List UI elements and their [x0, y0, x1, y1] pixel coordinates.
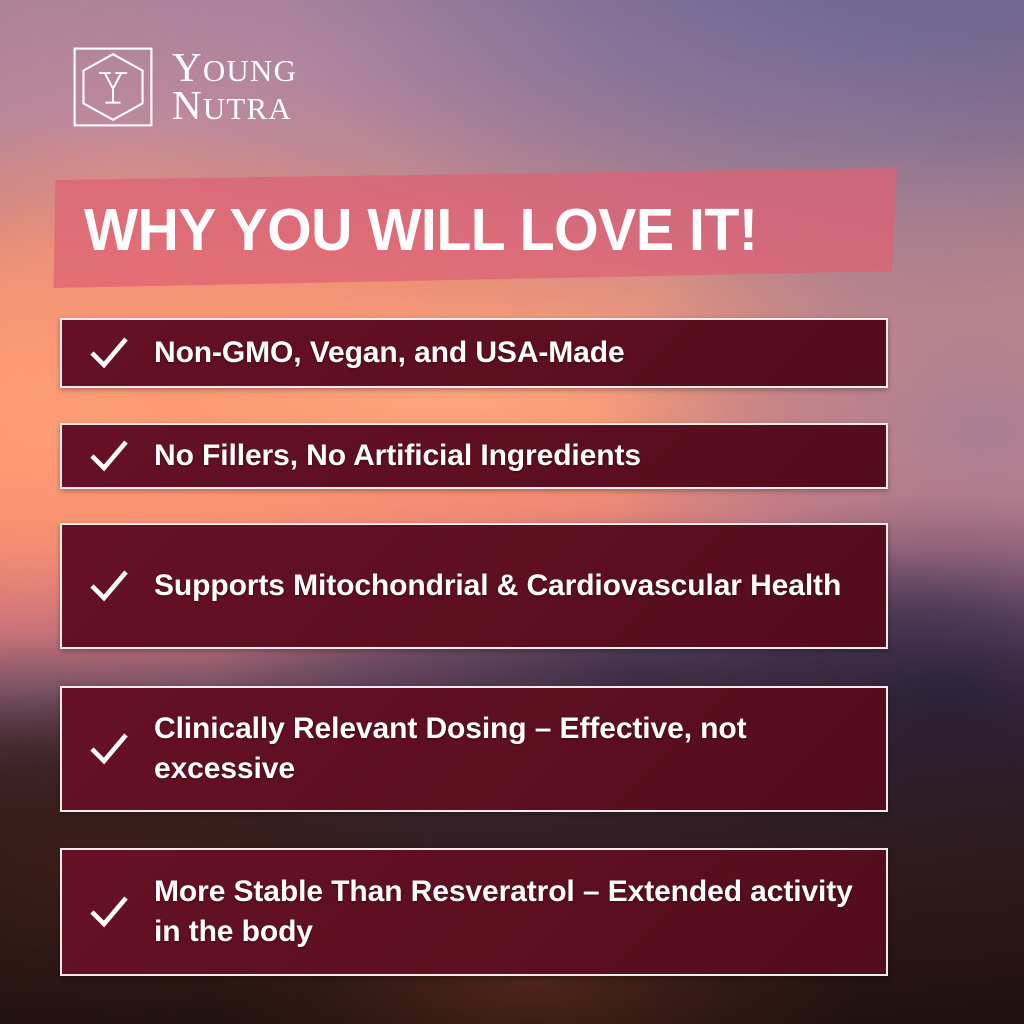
benefit-item-label: More Stable Than Resveratrol – Extended …: [154, 872, 854, 952]
benefit-item: Non-GMO, Vegan, and USA-Made: [60, 318, 888, 388]
benefit-item: More Stable Than Resveratrol – Extended …: [60, 848, 888, 976]
check-mark-icon: [86, 566, 132, 606]
benefit-item-label: Non-GMO, Vegan, and USA-Made: [154, 333, 834, 373]
page-title: WHY YOU WILL LOVE IT!: [84, 196, 889, 264]
check-mark-icon: [86, 333, 132, 373]
benefit-item: No Fillers, No Artificial Ingredients: [60, 423, 888, 489]
benefit-item: Supports Mitochondrial & Cardiovascular …: [60, 523, 888, 649]
brand-logo: YOUNG NUTRA: [72, 46, 297, 128]
brand-name-line-2: NUTRA: [172, 87, 297, 125]
check-mark-icon: [86, 892, 132, 932]
check-mark-icon: [86, 729, 132, 769]
young-nutra-hexagon-y-logo-icon: [72, 46, 154, 128]
benefit-item-label: Supports Mitochondrial & Cardiovascular …: [154, 566, 854, 606]
benefit-item-label: No Fillers, No Artificial Ingredients: [154, 436, 834, 476]
check-mark-icon: [86, 436, 132, 476]
benefit-item-label: Clinically Relevant Dosing – Effective, …: [154, 709, 854, 789]
promotional-graphic: YOUNG NUTRA WHY YOU WILL LOVE IT! Non-GM…: [0, 0, 1024, 1024]
brand-wordmark: YOUNG NUTRA: [172, 49, 297, 124]
benefit-item: Clinically Relevant Dosing – Effective, …: [60, 686, 888, 812]
